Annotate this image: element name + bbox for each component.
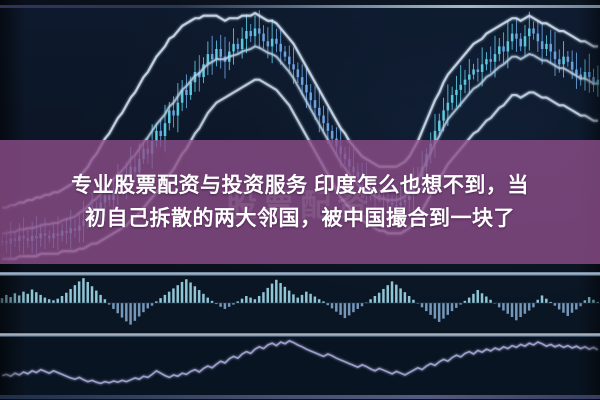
- bottom-divider-line: [0, 395, 600, 399]
- panel-separator-lower: [0, 333, 600, 337]
- panel-separator-upper: [0, 272, 600, 276]
- stock-chart-banner-image: 股票配资 专业股票配资与投资服务 印度怎么也想不到，当 初自己拆散的两大邻国，被…: [0, 0, 600, 400]
- headline-text: 专业股票配资与投资服务 印度怎么也想不到，当 初自己拆散的两大邻国，被中国撮合到…: [63, 169, 537, 235]
- headline-line-1: 专业股票配资与投资服务 印度怎么也想不到，当: [71, 169, 529, 202]
- top-divider-line: [0, 5, 600, 8]
- headline-banner: 股票配资 专业股票配资与投资服务 印度怎么也想不到，当 初自己拆散的两大邻国，被…: [0, 140, 600, 264]
- headline-line-2: 初自己拆散的两大邻国，被中国撮合到一块了: [71, 202, 529, 235]
